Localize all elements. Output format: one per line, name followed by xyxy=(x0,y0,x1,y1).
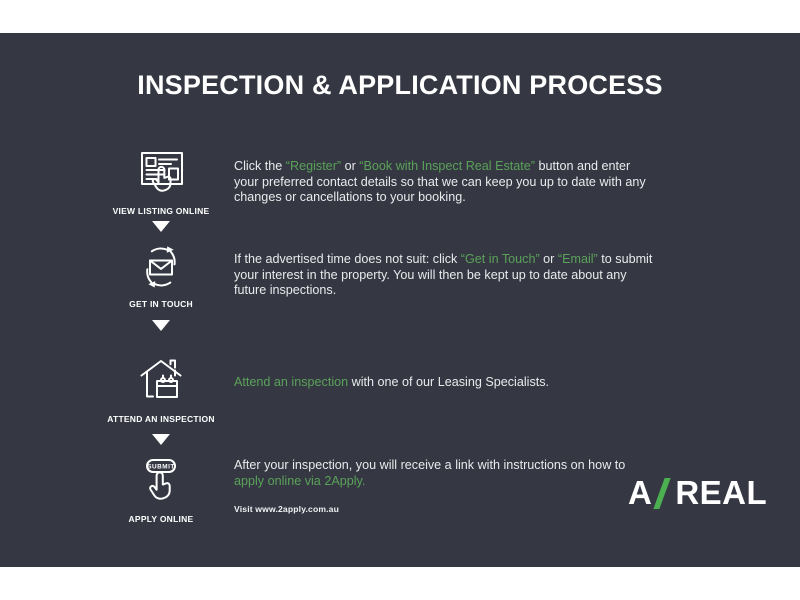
step-3-label: ATTEND AN INSPECTION xyxy=(96,414,226,424)
step-2-text-2: or xyxy=(540,252,558,266)
page-title: INSPECTION & APPLICATION PROCESS xyxy=(0,68,800,102)
house-calendar-icon xyxy=(96,356,226,408)
logo-letter-a: A xyxy=(628,474,652,512)
step-4-text-1: After your inspection, you will receive … xyxy=(234,458,625,472)
step-2-highlight-email: “Email” xyxy=(558,252,598,266)
step-4-icon-column: SUBMIT APPLY ONLINE xyxy=(96,456,226,524)
svg-text:SUBMIT: SUBMIT xyxy=(147,464,175,471)
step-2-highlight-get-in-touch: “Get in Touch” xyxy=(461,252,540,266)
step-3-icon-column: ATTEND AN INSPECTION xyxy=(96,356,226,424)
step-1-highlight-register: “Register” xyxy=(286,159,341,173)
step-3-body: Attend an inspection with one of our Lea… xyxy=(234,375,654,391)
step-1-text-2: or xyxy=(341,159,359,173)
step-2-text-1: If the advertised time does not suit: cl… xyxy=(234,252,461,266)
step-1-body: Click the “Register” or “Book with Inspe… xyxy=(234,159,654,206)
listing-window-cursor-icon xyxy=(96,148,226,200)
step-2-label: GET IN TOUCH xyxy=(96,299,226,309)
step-4-body: After your inspection, you will receive … xyxy=(234,458,654,518)
step-1-label: VIEW LISTING ONLINE xyxy=(96,206,226,216)
logo-word-real: REAL xyxy=(675,474,767,512)
step-1-text-1: Click the xyxy=(234,159,286,173)
step-1-icon-column: VIEW LISTING ONLINE xyxy=(96,148,226,216)
visit-url-text: Visit www.2apply.com.au xyxy=(234,502,654,518)
envelope-refresh-icon xyxy=(96,241,226,293)
step-3-text-1: with one of our Leasing Specialists. xyxy=(348,375,549,389)
step-2-body: If the advertised time does not suit: cl… xyxy=(234,252,654,299)
step-4-paragraph: After your inspection, you will receive … xyxy=(234,458,654,489)
green-slash-icon xyxy=(655,477,672,509)
step-4-label: APPLY ONLINE xyxy=(96,514,226,524)
submit-button-cursor-icon: SUBMIT xyxy=(96,456,226,508)
step-3-highlight-attend: Attend an inspection xyxy=(234,375,348,389)
brand-logo: A REAL xyxy=(628,474,767,512)
slide-canvas: INSPECTION & APPLICATION PROCESS VIEW LI… xyxy=(0,0,800,600)
step-2-icon-column: GET IN TOUCH xyxy=(96,241,226,309)
step-1-highlight-book-ire: “Book with Inspect Real Estate” xyxy=(359,159,535,173)
step-4-highlight-apply-online: apply online via 2Apply. xyxy=(234,474,365,488)
